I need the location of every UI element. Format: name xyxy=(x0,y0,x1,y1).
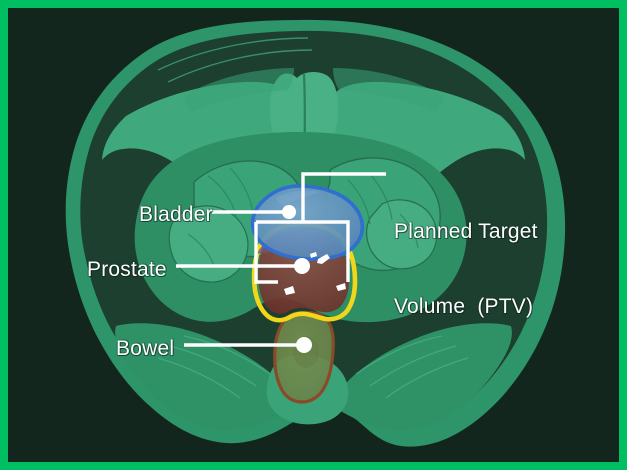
label-ptv-line2: Volume (PTV) xyxy=(394,294,538,319)
prostate-callout-dot xyxy=(294,258,310,274)
bowel-callout-dot xyxy=(296,337,312,353)
bladder-callout-dot xyxy=(282,205,296,219)
label-prostate[interactable]: Prostate xyxy=(87,257,167,282)
bowel-structure xyxy=(275,312,334,402)
label-bladder[interactable]: Bladder xyxy=(139,202,213,227)
figure-root: Planned Target Volume (PTV) Bladder Pros… xyxy=(0,0,627,470)
label-bowel[interactable]: Bowel xyxy=(116,336,174,361)
label-ptv-line1: Planned Target xyxy=(394,219,538,244)
ct-scan-canvas: Planned Target Volume (PTV) Bladder Pros… xyxy=(8,8,619,462)
label-planned-target-volume[interactable]: Planned Target Volume (PTV) xyxy=(394,169,538,369)
